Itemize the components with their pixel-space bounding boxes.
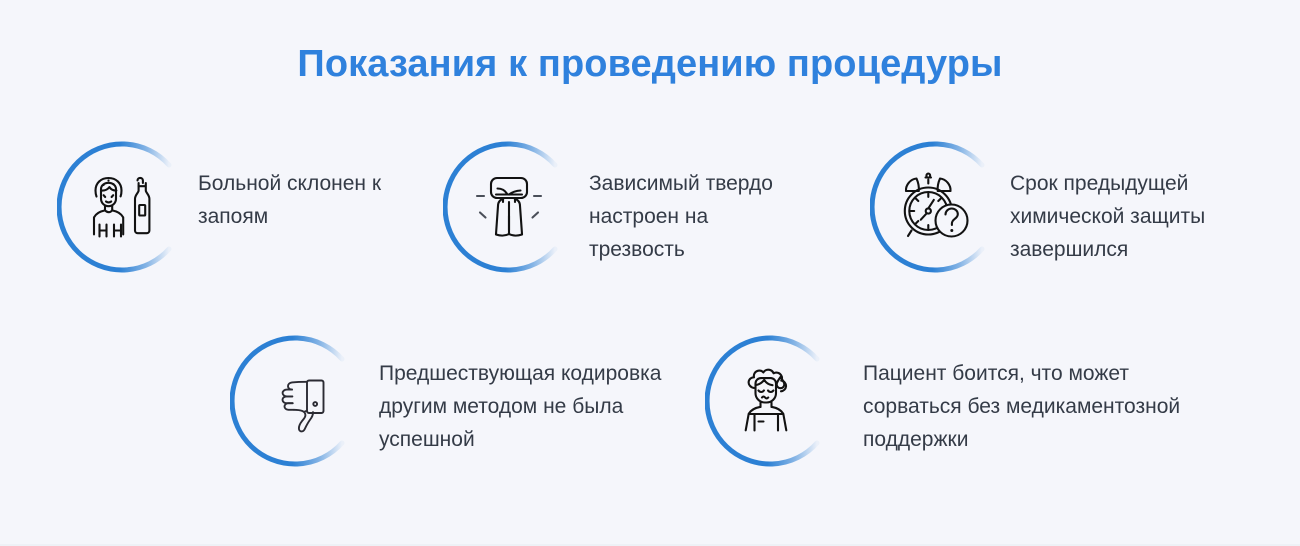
indication-label-2: Зависимый твердо настроен на трезвость: [589, 141, 804, 266]
determined-person-icon: [443, 141, 575, 273]
indication-item-5: Пациент боится, что может сорваться без …: [705, 335, 1218, 467]
worried-patient-icon: [705, 335, 837, 467]
indications-infographic: Показания к проведению процедуры: [0, 0, 1300, 546]
alarm-clock-question-icon: [870, 141, 1002, 273]
person-with-bottle-icon: [57, 141, 189, 273]
icon-badge-4: [230, 335, 362, 467]
indication-label-1: Больной склонен к запоям: [198, 141, 433, 233]
icon-badge-5: [705, 335, 837, 467]
indication-label-3: Срок предыдущей химической защиты заверш…: [1010, 141, 1250, 266]
icon-badge-3: [870, 141, 1002, 273]
indication-label-4: Предшествующая кодировка другим методом …: [379, 335, 709, 456]
indication-item-4: Предшествующая кодировка другим методом …: [230, 335, 709, 467]
icon-badge-2: [443, 141, 575, 273]
icon-badge-1: [57, 141, 189, 273]
indication-item-3: Срок предыдущей химической защиты заверш…: [870, 141, 1250, 273]
indication-item-1: Больной склонен к запоям: [57, 141, 433, 273]
thumbs-down-icon: [230, 335, 362, 467]
indication-label-5: Пациент боится, что может сорваться без …: [863, 335, 1218, 456]
indication-item-2: Зависимый твердо настроен на трезвость: [443, 141, 804, 273]
page-title: Показания к проведению процедуры: [0, 44, 1300, 86]
